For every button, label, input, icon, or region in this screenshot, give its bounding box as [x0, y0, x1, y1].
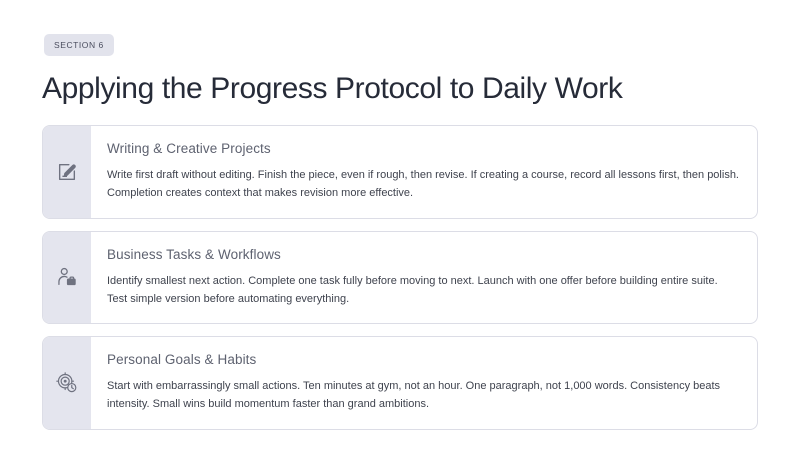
page-title: Applying the Progress Protocol to Daily … [42, 72, 758, 106]
card-body: Writing & Creative Projects Write first … [91, 126, 757, 217]
card-list: Writing & Creative Projects Write first … [42, 125, 758, 429]
card-icon-panel [43, 337, 91, 428]
card-business-tasks-workflows[interactable]: Business Tasks & Workflows Identify smal… [42, 231, 758, 324]
card-description: Write first draft without editing. Finis… [107, 166, 739, 202]
card-title: Business Tasks & Workflows [107, 247, 739, 263]
slide-root: SECTION 6 Applying the Progress Protocol… [0, 0, 800, 450]
card-title: Writing & Creative Projects [107, 141, 739, 157]
card-title: Personal Goals & Habits [107, 352, 739, 368]
memo-pencil-icon [56, 161, 78, 183]
card-icon-panel [43, 232, 91, 323]
section-badge: SECTION 6 [44, 34, 114, 56]
card-description: Identify smallest next action. Complete … [107, 272, 739, 308]
card-body: Personal Goals & Habits Start with embar… [91, 337, 757, 428]
card-body: Business Tasks & Workflows Identify smal… [91, 232, 757, 323]
person-briefcase-icon [56, 266, 78, 288]
card-writing-creative-projects[interactable]: Writing & Creative Projects Write first … [42, 125, 758, 218]
card-icon-panel [43, 126, 91, 217]
target-clock-icon [56, 372, 78, 394]
card-personal-goals-habits[interactable]: Personal Goals & Habits Start with embar… [42, 336, 758, 429]
card-description: Start with embarrassingly small actions.… [107, 377, 739, 413]
